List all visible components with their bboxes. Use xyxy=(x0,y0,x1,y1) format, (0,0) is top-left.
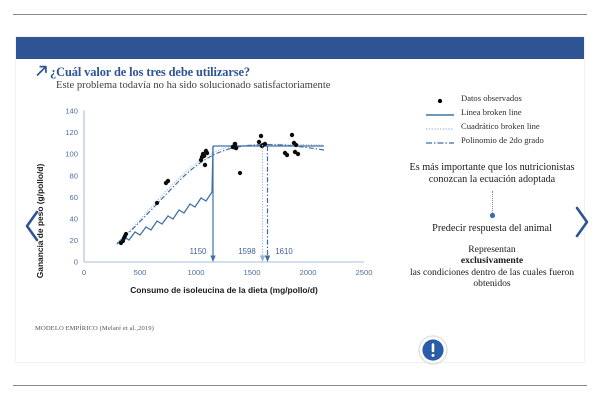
annotation-lines xyxy=(210,145,270,262)
chart-legend: Datos observados Linea broken line Cuadr… xyxy=(425,91,575,147)
svg-text:120: 120 xyxy=(65,128,78,137)
right-text-block-3-strong: exclusivamente xyxy=(461,255,523,266)
slide-page: ¿Cuál valor de los tres debe utilizarse?… xyxy=(0,0,600,402)
annotation-arrow-1610 xyxy=(265,256,270,263)
annotation-label-1150: 1150 xyxy=(190,247,207,256)
svg-text:140: 140 xyxy=(65,107,78,116)
connector-dot-icon xyxy=(490,213,495,218)
page-subtitle: Este problema todavía no ha sido solucio… xyxy=(56,80,330,91)
chart-xlabel: Consumo de isoleucina de la dieta (mg/po… xyxy=(130,285,318,295)
line-dashdot-icon xyxy=(425,135,455,145)
series-linea-broken-line-final xyxy=(117,146,324,244)
page-title-text: ¿Cuál valor de los tres debe utilizarse? xyxy=(50,65,250,80)
annotation-arrow-1598 xyxy=(260,256,265,263)
right-text-block-3: Representan exclusivamente las condicion… xyxy=(408,244,576,289)
svg-text:500: 500 xyxy=(134,268,147,277)
legend-item-cuadratico-broken-line: Cuadrático broken line xyxy=(425,119,575,133)
divider-top xyxy=(13,14,587,15)
right-text-block-2: Predecir respuesta del animal xyxy=(408,223,576,235)
svg-text:40: 40 xyxy=(70,215,78,224)
dotted-connector xyxy=(492,191,493,215)
chart-svg: Ganancia de peso (g/pollo/d) 140 120 100… xyxy=(34,103,384,333)
line-dotted-icon xyxy=(425,121,455,131)
marker-dot-icon xyxy=(425,93,455,103)
slide-header-band xyxy=(16,37,584,59)
page-title: ¿Cuál valor de los tres debe utilizarse? xyxy=(35,63,250,80)
right-text-block-3-pre: Representan xyxy=(468,244,515,255)
svg-text:60: 60 xyxy=(70,193,78,202)
svg-text:1000: 1000 xyxy=(188,268,205,277)
annotation-labels: 1150 1598 1610 xyxy=(190,247,294,256)
annotation-label-1610: 1610 xyxy=(275,247,293,256)
legend-item-datos-observados: Datos observados xyxy=(425,91,575,105)
svg-text:100: 100 xyxy=(65,150,78,159)
chart-ylabel: Ganancia de peso (g/pollo/d) xyxy=(35,164,45,279)
svg-text:2500: 2500 xyxy=(356,268,373,277)
svg-text:20: 20 xyxy=(70,236,78,245)
legend-item-polinomio-2do-grado: Polinomio de 2do grado xyxy=(425,133,575,147)
chart-figure: Ganancia de peso (g/pollo/d) 140 120 100… xyxy=(34,103,384,333)
legend-item-linea-broken-line: Linea broken line xyxy=(425,105,575,119)
arrow-up-right-icon xyxy=(35,64,48,77)
broken-line-ascending xyxy=(117,146,213,244)
svg-text:80: 80 xyxy=(70,171,78,180)
annotation-label-1598: 1598 xyxy=(238,247,255,256)
legend-label: Linea broken line xyxy=(461,107,522,117)
divider-bottom xyxy=(13,385,587,386)
svg-text:0: 0 xyxy=(82,268,86,277)
svg-text:1500: 1500 xyxy=(244,268,261,277)
right-text-block-1: Es más importante que los nutricionistas… xyxy=(408,162,576,186)
legend-label: Polinomio de 2do grado xyxy=(461,135,544,145)
chart-ytick-labels: 140 120 100 80 60 40 20 0 xyxy=(65,107,78,267)
right-text-column: Es más importante que los nutricionistas… xyxy=(408,162,576,289)
svg-text:0: 0 xyxy=(74,258,78,267)
chart-xtick-labels: 0 500 1000 1500 2000 2500 xyxy=(82,268,373,277)
legend-label: Cuadrático broken line xyxy=(461,121,540,131)
legend-label: Datos observados xyxy=(461,93,522,103)
annotation-arrow-1150 xyxy=(210,256,215,263)
svg-text:2000: 2000 xyxy=(300,268,317,277)
line-solid-icon xyxy=(425,107,455,117)
slide-canvas: ¿Cuál valor de los tres debe utilizarse?… xyxy=(16,37,584,362)
exclamation-circle-icon xyxy=(418,335,448,365)
source-footnote: MODELO EMPÍRICO (Melaré et al.,2019) xyxy=(35,325,154,332)
right-text-block-3-post: las condiciones dentro de las cuales fue… xyxy=(410,267,574,289)
scatter-points xyxy=(119,133,300,245)
series-polynomial-2do-grado xyxy=(117,145,324,244)
